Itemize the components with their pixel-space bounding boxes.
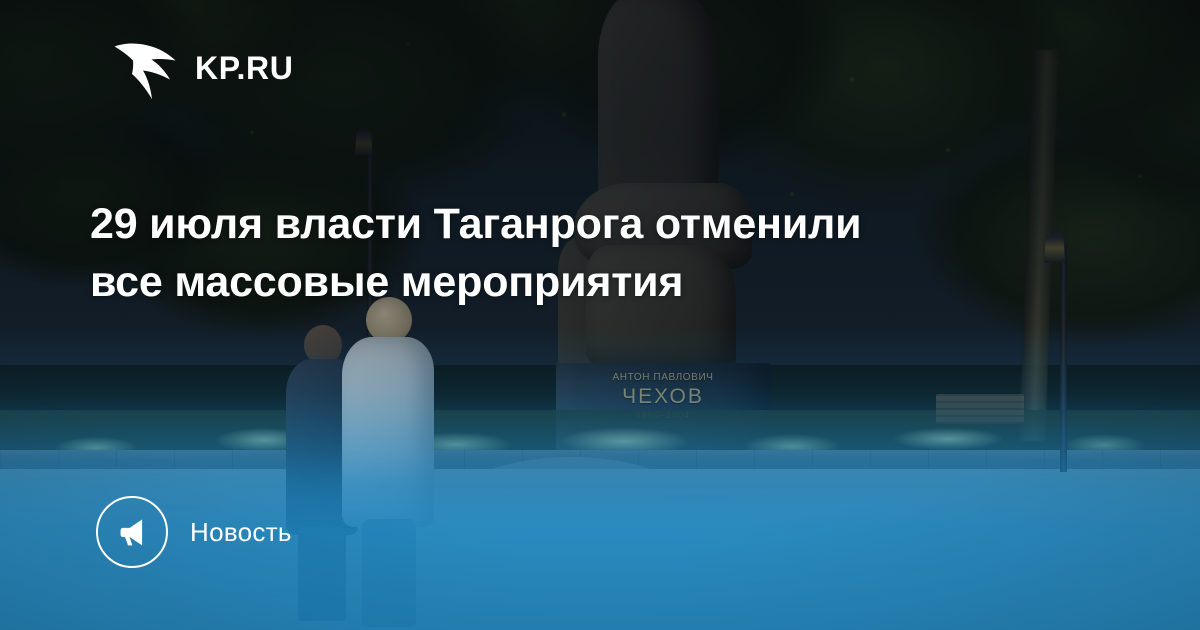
status-badge[interactable]: Новость — [96, 496, 292, 568]
page-title: 29 июля власти Таганрога отменили все ма… — [90, 196, 890, 311]
badge-icon-circle — [96, 496, 168, 568]
brand-lockup[interactable]: KP.RU — [113, 33, 293, 103]
brand-name: KP.RU — [195, 52, 293, 84]
badge-label: Новость — [190, 519, 292, 545]
card-content: KP.RU 29 июля власти Таганрога отменили … — [0, 0, 1200, 630]
swallow-bird-icon — [113, 33, 177, 103]
news-share-card: АНТОН ПАВЛОВИЧ ЧЕХОВ 1860–1904 — [0, 0, 1200, 630]
megaphone-icon — [115, 515, 149, 549]
